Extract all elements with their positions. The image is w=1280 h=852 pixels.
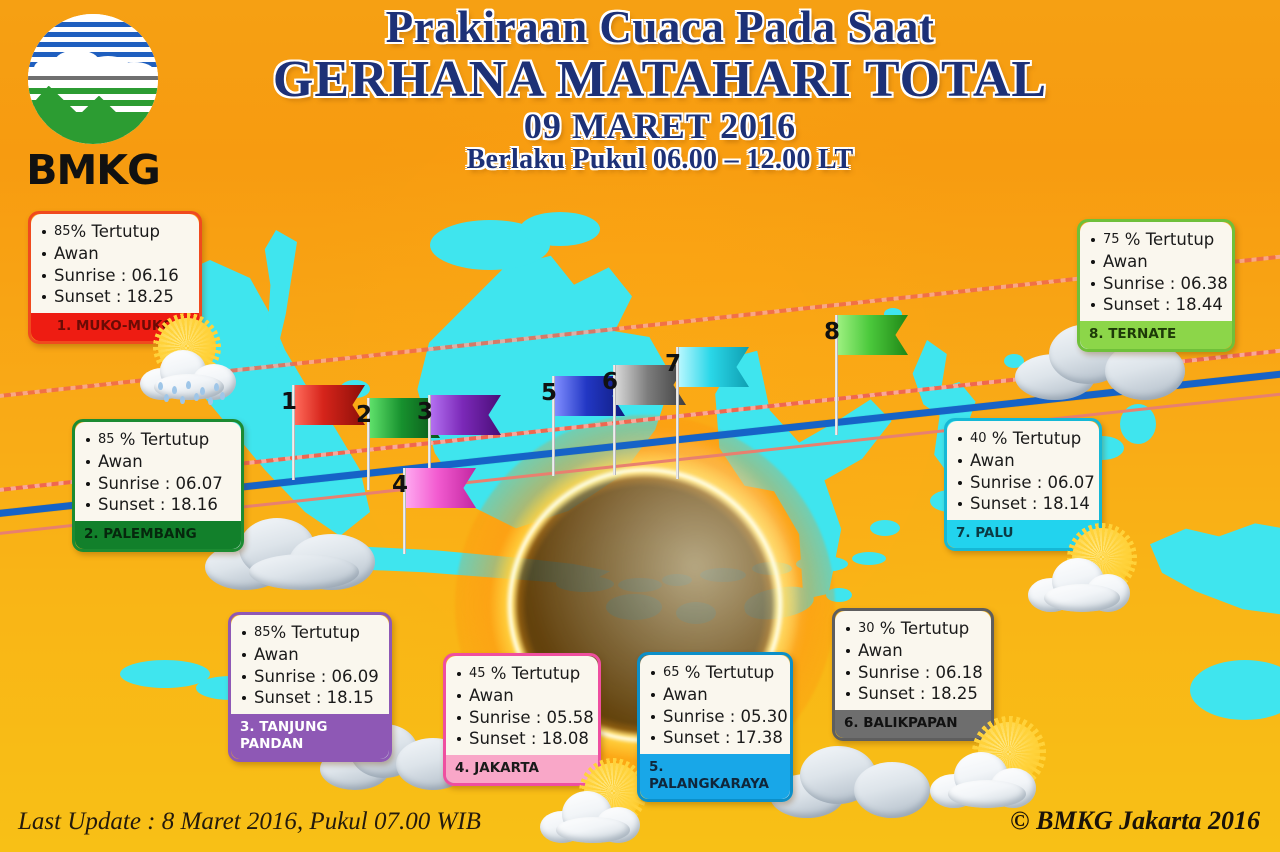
cloud-cover-unit: % Tertutup — [71, 222, 160, 241]
station-name-label: 5. PALANGKARAYA — [640, 754, 790, 799]
flag-number: 5 — [541, 380, 557, 406]
cloud-cover-line: 85 % Tertutup — [84, 429, 232, 451]
sunset-line: Sunset : 18.25 — [40, 286, 190, 308]
cloud-cover-line: 85% Tertutup — [40, 221, 190, 243]
title-line-3: 09 MARET 2016 — [250, 107, 1070, 145]
bmkg-logo-icon — [28, 14, 158, 144]
station-name-label: 2. PALEMBANG — [75, 521, 241, 549]
decor-cloud-icon — [770, 740, 930, 818]
sunset-line: Sunset : 17.38 — [649, 727, 781, 749]
sunset-line: Sunset : 18.16 — [84, 494, 232, 516]
flag-number: 3 — [417, 399, 433, 425]
cloud-cover-line2: Awan — [844, 640, 982, 662]
cloud-icon — [930, 750, 1036, 808]
sunrise-line: Sunrise : 05.30 — [649, 706, 781, 728]
title-block: Prakiraan Cuaca Pada Saat GERHANA MATAHA… — [250, 4, 1070, 175]
flag-number: 8 — [824, 319, 840, 345]
flag-number: 2 — [356, 402, 372, 428]
weather-icon-sun-cloud — [930, 722, 1050, 808]
sunrise-line: Sunrise : 06.07 — [84, 473, 232, 495]
sunrise-line: Sunrise : 05.58 — [455, 707, 589, 729]
cloud-cover-line2: Awan — [84, 451, 232, 473]
station-name-label: 8. TERNATE — [1080, 321, 1232, 349]
sunset-line: Sunset : 18.44 — [1089, 294, 1223, 316]
card-body: 45 % Tertutup Awan Sunrise : 05.58 Sunse… — [446, 656, 598, 755]
cloud-icon — [540, 789, 640, 843]
cloud-cover-line: 85% Tertutup — [240, 622, 380, 644]
cloud-cover-value: 85 — [54, 224, 71, 239]
card-body: 85 % Tertutup Awan Sunrise : 06.07 Sunse… — [75, 422, 241, 521]
sunset-line: Sunset : 18.25 — [844, 683, 982, 705]
title-line-4: Berlaku Pukul 06.00 – 12.00 LT — [250, 145, 1070, 175]
card-body: 40 % Tertutup Awan Sunrise : 06.07 Sunse… — [947, 421, 1099, 520]
station-card-palangkaraya[interactable]: 65 % Tertutup Awan Sunrise : 05.30 Sunse… — [637, 652, 793, 802]
cloud-cover-unit: % Tertutup — [120, 430, 209, 449]
sunrise-line: Sunrise : 06.38 — [1089, 273, 1223, 295]
sunset-line: Sunset : 18.14 — [956, 493, 1090, 515]
card-body: 75 % Tertutup Awan Sunrise : 06.38 Sunse… — [1080, 222, 1232, 321]
flag-number: 1 — [281, 389, 297, 415]
eclipse-weather-infographic: BMKG Prakiraan Cuaca Pada Saat GERHANA M… — [0, 0, 1280, 852]
landmass-papua — [1150, 500, 1280, 630]
station-card-tanjung-pandan[interactable]: 85% Tertutup Awan Sunrise : 06.09 Sunset… — [228, 612, 392, 762]
flag-number: 6 — [602, 369, 618, 395]
flag-number: 4 — [392, 472, 408, 498]
weather-icon-sun-cloud — [1028, 528, 1144, 612]
card-body: 85% Tertutup Awan Sunrise : 06.16 Sunset… — [31, 214, 199, 313]
cloud-cover-unit: % Tertutup — [685, 663, 774, 682]
station-name-label: 3. TANJUNG PANDAN — [231, 714, 389, 759]
title-line-1: Prakiraan Cuaca Pada Saat — [250, 4, 1070, 52]
cloud-cover-unit: % Tertutup — [992, 429, 1081, 448]
cloud-cover-line: 45 % Tertutup — [455, 663, 589, 685]
flag-number: 7 — [665, 351, 681, 377]
weather-icon-sun-rain-cloud — [140, 318, 250, 418]
station-card-balikpapan[interactable]: 30 % Tertutup Awan Sunrise : 06.18 Sunse… — [832, 608, 994, 741]
sunset-line: Sunset : 18.15 — [240, 687, 380, 709]
card-body: 85% Tertutup Awan Sunrise : 06.09 Sunset… — [231, 615, 389, 714]
cloud-cover-line2: Awan — [1089, 251, 1223, 273]
cloud-cover-line2: Awan — [240, 644, 380, 666]
bmkg-logo: BMKG — [18, 14, 178, 184]
flag-cloth — [838, 315, 908, 355]
cloud-cover-unit: % Tertutup — [1125, 230, 1214, 249]
flag-cloth — [295, 385, 365, 425]
rain-icon — [154, 380, 228, 406]
station-card-ternate[interactable]: 75 % Tertutup Awan Sunrise : 06.38 Sunse… — [1077, 219, 1235, 352]
copyright-text: © BMKG Jakarta 2016 — [1010, 806, 1260, 836]
weather-icon-sun-cloud — [540, 763, 650, 843]
cloud-cover-line: 75 % Tertutup — [1089, 229, 1223, 251]
last-update-text: Last Update : 8 Maret 2016, Pukul 07.00 … — [18, 808, 481, 836]
station-card-palembang[interactable]: 85 % Tertutup Awan Sunrise : 06.07 Sunse… — [72, 419, 244, 552]
cloud-icon — [1028, 556, 1130, 612]
sunrise-line: Sunrise : 06.07 — [956, 472, 1090, 494]
cloud-cover-unit: % Tertutup — [880, 619, 969, 638]
cloud-cover-unit: % Tertutup — [271, 623, 360, 642]
cloud-cover-line: 40 % Tertutup — [956, 428, 1090, 450]
sunrise-line: Sunrise : 06.18 — [844, 662, 982, 684]
cloud-cover-unit: % Tertutup — [491, 664, 580, 683]
sunrise-line: Sunrise : 06.16 — [40, 265, 190, 287]
sunrise-line: Sunrise : 06.09 — [240, 666, 380, 688]
bmkg-logo-text: BMKG — [18, 146, 168, 194]
cloud-cover-line: 30 % Tertutup — [844, 618, 982, 640]
cloud-cover-line2: Awan — [956, 450, 1090, 472]
cloud-cover-line: 65 % Tertutup — [649, 662, 781, 684]
cloud-cover-line2: Awan — [455, 685, 589, 707]
title-line-2: GERHANA MATAHARI TOTAL — [250, 52, 1070, 107]
sunset-line: Sunset : 18.08 — [455, 728, 589, 750]
cloud-cover-line2: Awan — [40, 243, 190, 265]
card-body: 65 % Tertutup Awan Sunrise : 05.30 Sunse… — [640, 655, 790, 754]
cloud-cover-line2: Awan — [649, 684, 781, 706]
card-body: 30 % Tertutup Awan Sunrise : 06.18 Sunse… — [835, 611, 991, 710]
